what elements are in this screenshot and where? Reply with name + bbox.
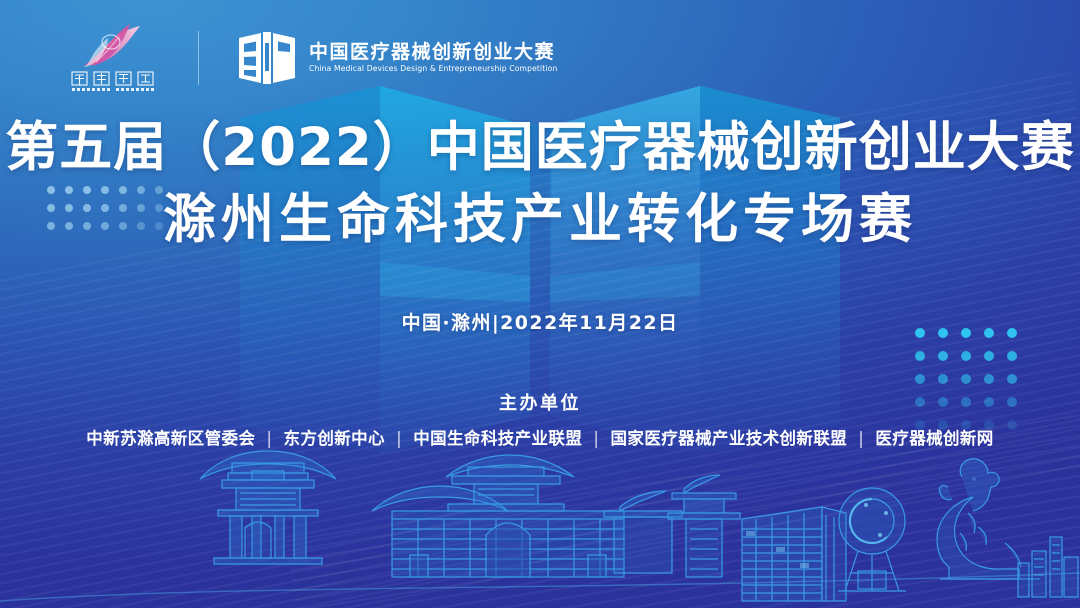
chinese-pagoda — [668, 475, 740, 577]
logo-header: 中国医疗器械创新创业大赛 China Medical Devices Desig… — [0, 0, 1080, 93]
competition-name-cn: 中国医疗器械创新创业大赛 — [309, 43, 557, 62]
merlion-statue — [937, 459, 1040, 579]
main-title-block: 第五届（2022）中国医疗器械创新创业大赛 滁州生命科技产业转化专场赛 — [0, 112, 1080, 256]
modern-office-tower — [742, 507, 846, 601]
organizer-separator: | — [853, 429, 869, 448]
competition-logo: 中国医疗器械创新创业大赛 China Medical Devices Desig… — [237, 30, 557, 86]
organizer-item: 中国生命科技产业联盟 — [413, 429, 582, 448]
competition-name-en: China Medical Devices Design & Entrepren… — [309, 65, 557, 73]
organizer-separator: | — [261, 429, 277, 448]
organizer-item: 东方创新中心 — [284, 429, 385, 448]
chinese-gate-tower — [372, 455, 682, 577]
organizers-heading: 主办单位 — [0, 389, 1080, 415]
city-skyline-illustration — [0, 433, 1080, 608]
organizer-item: 医疗器械创新网 — [875, 429, 993, 448]
organizer-separator: | — [391, 429, 407, 448]
ring-sculpture — [838, 488, 906, 591]
logo-separator — [198, 31, 199, 85]
organizer-item: 国家医疗器械产业技术创新联盟 — [611, 429, 848, 448]
open-book-door-icon — [237, 30, 297, 86]
poster-canvas: 中国医疗器械创新创业大赛 China Medical Devices Desig… — [0, 0, 1080, 608]
innovation-china-logo — [62, 22, 170, 93]
bird-icon — [62, 22, 170, 68]
organizer-item: 中新苏滁高新区管委会 — [86, 429, 255, 448]
competition-wordmark: 中国医疗器械创新创业大赛 China Medical Devices Desig… — [309, 43, 557, 73]
title-line-1: 第五届（2022）中国医疗器械创新创业大赛 — [0, 112, 1080, 184]
location-date: 中国·滁州|2022年11月22日 — [0, 308, 1080, 335]
organizer-separator: | — [588, 429, 604, 448]
city-buildings — [1018, 537, 1078, 597]
organizers-list: 中新苏滁高新区管委会 | 东方创新中心 | 中国生命科技产业联盟 | 国家医疗器… — [0, 425, 1080, 449]
chinese-pavilion — [200, 451, 336, 564]
innovation-china-wordmark — [62, 71, 170, 93]
title-line-2: 滁州生命科技产业转化专场赛 — [0, 184, 1080, 256]
